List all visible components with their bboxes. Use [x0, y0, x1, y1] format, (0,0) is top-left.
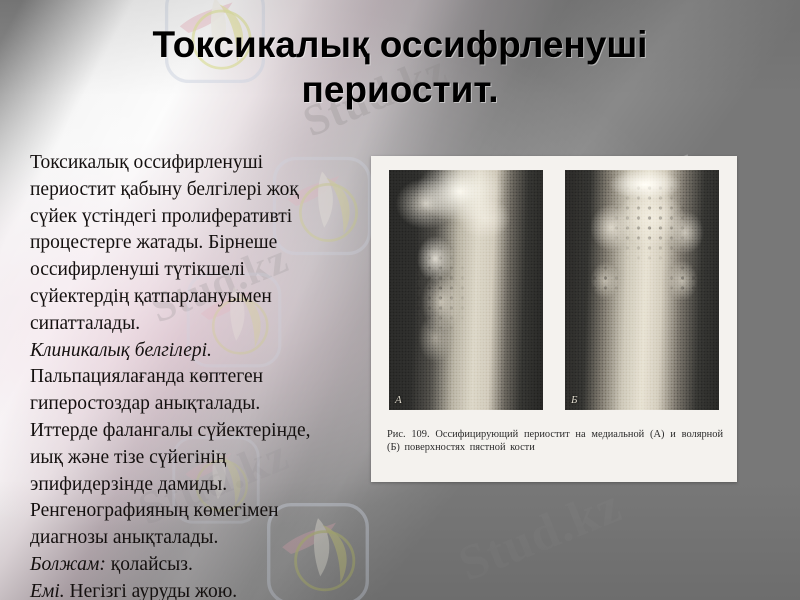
- body-line-prognosis: Болжам: қолайсыз.: [30, 552, 360, 579]
- body-line-treatment: Емі. Негізгі ауруды жою.: [30, 579, 360, 600]
- xray-image-row: А Б: [389, 170, 719, 410]
- body-line: диагнозы анықталады.: [30, 525, 360, 552]
- body-line: сүйектердің қатпарлануымен: [30, 284, 360, 311]
- body-line-value: қолайсыз.: [106, 554, 193, 575]
- body-line-label: Болжам:: [30, 554, 106, 575]
- body-line: периостит қабыну белгілері жоқ: [30, 177, 360, 204]
- presentation-slide: Stud.kz Stud.kz Stud.kz Stud.kz Stud.kz …: [0, 0, 800, 600]
- body-line: сүйек үстіндегі пролиферативті: [30, 204, 360, 231]
- slide-body-text: Токсикалық оссифирленуші периостит қабын…: [30, 150, 360, 600]
- body-line: Иттерде фалангалы сүйектерінде,: [30, 418, 360, 445]
- slide-title-line: периостит.: [60, 67, 740, 112]
- figure-caption: Рис. 109. Оссифицирующий периостит на ме…: [387, 428, 723, 455]
- xray-image-b: Б: [565, 170, 719, 410]
- xray-film-grain: [389, 170, 543, 410]
- body-line: Пальпациялағанда көптеген: [30, 364, 360, 391]
- slide-title-line: Токсикалық оссифрленуші: [60, 22, 740, 67]
- body-line-value: Негізгі ауруды жою.: [65, 581, 238, 600]
- xray-film-grain: [565, 170, 719, 410]
- body-line: оссифирленуші түтікшелі: [30, 257, 360, 284]
- xray-image-a: А: [389, 170, 543, 410]
- figure-panel: А Б Рис. 109. Оссифицирующий периостит н…: [371, 156, 737, 482]
- body-line: гиперостоздар анықталады.: [30, 391, 360, 418]
- body-line: Токсикалық оссифирленуші: [30, 150, 360, 177]
- watermark-text: Stud.kz: [450, 475, 629, 592]
- body-line-heading: Клиникалық белгілері.: [30, 338, 360, 365]
- body-line: иық және тізе сүйегінің: [30, 445, 360, 472]
- body-line: сипатталады.: [30, 311, 360, 338]
- body-line: Ренгенографияның көмегімен: [30, 498, 360, 525]
- slide-title: Токсикалық оссифрленуші периостит.: [60, 22, 740, 112]
- body-line: эпифидерзінде дамиды.: [30, 472, 360, 499]
- xray-panel-label-a: А: [395, 394, 402, 406]
- xray-panel-label-b: Б: [571, 394, 578, 406]
- body-line: процестерге жатады. Бірнеше: [30, 230, 360, 257]
- body-line-label: Емі.: [30, 581, 65, 600]
